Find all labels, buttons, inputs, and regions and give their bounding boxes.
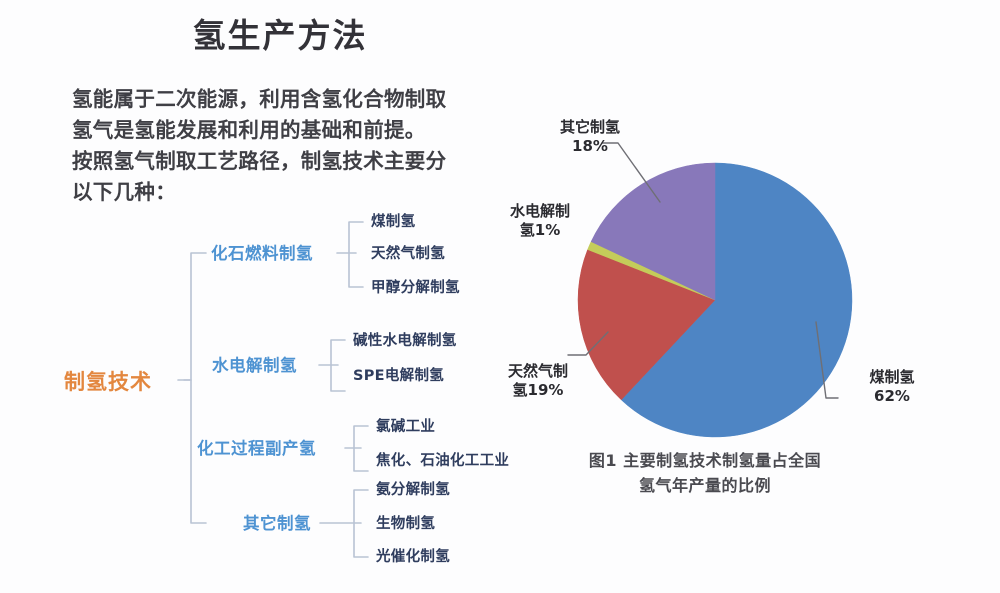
hydrogen-technology-tree: 制氢技术 化石燃料制氢 煤制氢 天然气制氢 甲醇分解制氢 水电解制氢 碱性水电解… bbox=[60, 205, 520, 590]
caption-line-2: 氢气年产量的比例 bbox=[530, 473, 880, 498]
tree-branch-water-electrolysis: 水电解制氢 bbox=[212, 358, 297, 375]
pie-label-water-name: 水电解制 bbox=[480, 202, 600, 221]
pie-label-water-value: 氢1% bbox=[480, 221, 600, 240]
tree-root-label: 制氢技术 bbox=[64, 372, 152, 393]
intro-line-2: 氢气是氢能发展和利用的基础和前提。 bbox=[72, 115, 492, 146]
pie-label-natural-gas: 天然气制 氢19% bbox=[478, 362, 598, 400]
tree-branch-chemical-byproduct: 化工过程副产氢 bbox=[197, 441, 316, 458]
level1-bracket bbox=[191, 253, 206, 523]
pie-label-other-name: 其它制氢 bbox=[520, 118, 660, 137]
pie-label-water-electrolysis: 水电解制 氢1% bbox=[480, 202, 600, 240]
caption-line-1: 图1 主要制氢技术制氢量占全国 bbox=[530, 448, 880, 473]
pie-label-gas-value: 氢19% bbox=[478, 381, 598, 400]
slide-canvas: 氢生产方法 氢能属于二次能源，利用含氢化合物制取 氢气是氢能发展和利用的基础和前… bbox=[0, 0, 1000, 593]
pie-label-other-value: 18% bbox=[520, 137, 660, 156]
tree-leaf-photocatalytic: 光催化制氢 bbox=[376, 550, 450, 565]
pie-label-other: 其它制氢 18% bbox=[520, 118, 660, 156]
intro-line-4: 以下几种： bbox=[72, 177, 492, 208]
tree-leaf-methanol: 甲醇分解制氢 bbox=[371, 281, 460, 296]
tree-leaf-alkaline: 碱性水电解制氢 bbox=[353, 334, 457, 349]
tree-branch-other: 其它制氢 bbox=[243, 516, 311, 533]
intro-line-1: 氢能属于二次能源，利用含氢化合物制取 bbox=[72, 84, 492, 115]
pie-slices bbox=[578, 163, 852, 437]
tree-leaf-spe: SPE电解制氢 bbox=[353, 369, 444, 384]
tree-leaf-biological: 生物制氢 bbox=[376, 517, 435, 532]
page-title: 氢生产方法 bbox=[0, 16, 560, 56]
pie-label-coal-name: 煤制氢 bbox=[842, 368, 942, 387]
intro-line-3: 按照氢气制取工艺路径，制氢技术主要分 bbox=[72, 146, 492, 177]
intro-paragraph: 氢能属于二次能源，利用含氢化合物制取 氢气是氢能发展和利用的基础和前提。 按照氢… bbox=[72, 84, 492, 208]
pie-label-gas-name: 天然气制 bbox=[478, 362, 598, 381]
tree-branch-fossil-fuel: 化石燃料制氢 bbox=[211, 246, 313, 263]
figure-caption: 图1 主要制氢技术制氢量占全国 氢气年产量的比例 bbox=[530, 448, 880, 498]
tree-leaf-coal: 煤制氢 bbox=[371, 215, 415, 230]
tree-leaf-chlor-alkali: 氯碱工业 bbox=[376, 420, 435, 435]
tree-leaf-ammonia: 氨分解制氢 bbox=[376, 483, 450, 498]
tree-leaf-natural-gas: 天然气制氢 bbox=[371, 247, 445, 262]
pie-label-coal-value: 62% bbox=[842, 387, 942, 406]
pie-label-coal: 煤制氢 62% bbox=[842, 368, 942, 406]
branch1-bracket bbox=[349, 222, 363, 287]
